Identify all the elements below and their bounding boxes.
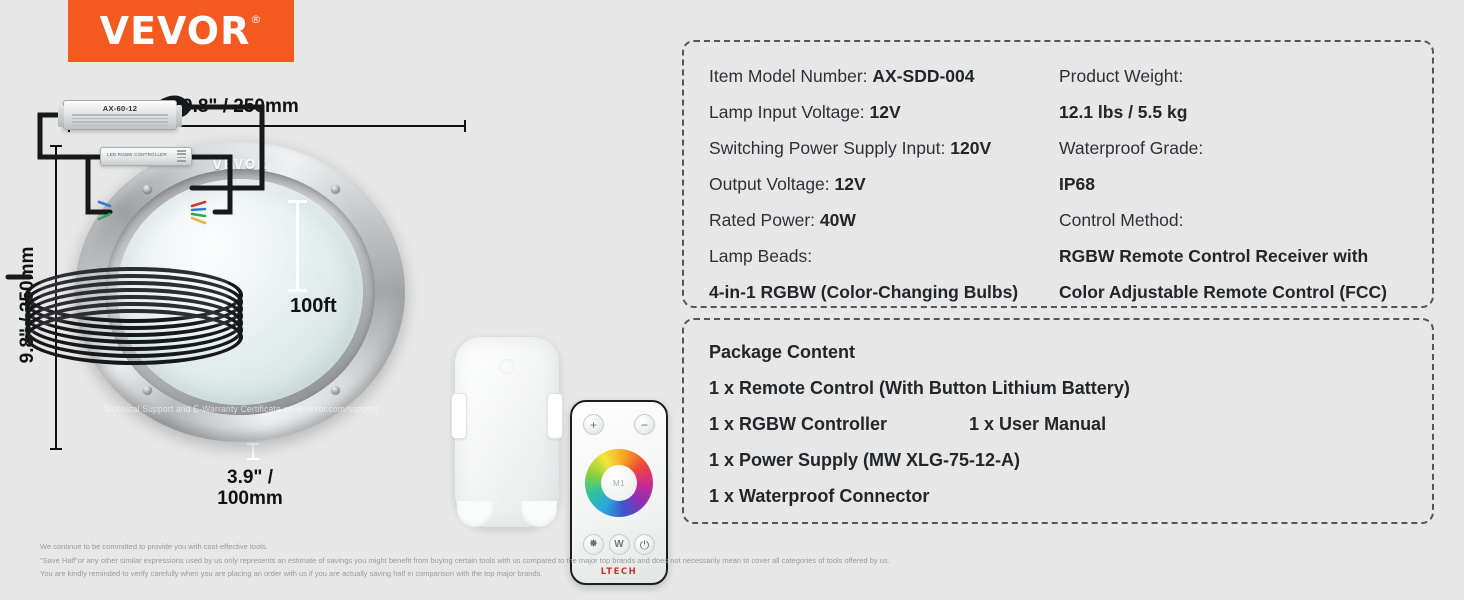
- vevor-logo: VEVOR ®: [68, 0, 294, 62]
- remote-mode-indicator: M1: [601, 465, 637, 501]
- package-item-primary: 1 x Waterproof Connector: [709, 486, 929, 506]
- spec-label: Lamp Beads:: [709, 246, 812, 266]
- disclaimer-line-3: You are kindly reminded to verify carefu…: [40, 567, 1140, 581]
- logo-wordmark: VEVOR ®: [100, 12, 263, 50]
- depth-dimension-label: 3.9" / 100mm: [185, 467, 315, 510]
- holder-screw-hole-icon: [500, 489, 515, 504]
- fixture-certificate-text: Technical Support and E-Warranty Certifi…: [75, 404, 405, 415]
- depth-label-line2: 100mm: [185, 488, 315, 509]
- holder-screw-hole-icon: [500, 359, 515, 374]
- spec-value: Color Adjustable Remote Control (FCC): [1059, 282, 1387, 302]
- spec-row: Output Voltage: 12V: [709, 166, 1054, 202]
- spec-row: Lamp Input Voltage: 12V: [709, 94, 1054, 130]
- depth-label-line1: 3.9" /: [185, 467, 315, 488]
- holder-clip-right: [547, 393, 563, 439]
- spec-value: AX-SDD-004: [872, 66, 974, 86]
- spec-row: RGBW Remote Control Receiver with: [1059, 238, 1419, 274]
- spec-row: 4-in-1 RGBW (Color-Changing Bulbs): [709, 274, 1054, 310]
- spec-label: Waterproof Grade:: [1059, 138, 1203, 158]
- package-item-primary: 1 x RGBW Controller: [709, 414, 887, 434]
- specification-panel: Item Model Number: AX-SDD-004Lamp Input …: [682, 40, 1434, 308]
- cable-coil: [25, 267, 243, 365]
- package-item-primary: 1 x Remote Control (With Button Lithium …: [709, 378, 1130, 398]
- spec-row: Switching Power Supply Input: 120V: [709, 130, 1054, 166]
- remote-plus-button: +: [583, 414, 604, 435]
- bezel-screw-icon: [331, 386, 340, 394]
- spec-label: Output Voltage:: [709, 174, 835, 194]
- spec-row: Control Method:: [1059, 202, 1419, 238]
- power-supply-model-label: AX-60-12: [64, 104, 176, 113]
- remote-minus-button: −: [634, 414, 655, 435]
- bezel-screw-icon: [331, 185, 340, 193]
- package-item: 1 x Remote Control (With Button Lithium …: [709, 370, 1414, 406]
- disclaimer-line-2: "Save Half"or any other similar expressi…: [40, 554, 1140, 568]
- spec-row: Lamp Beads:: [709, 238, 1054, 274]
- spec-value: 40W: [820, 210, 856, 230]
- width-dimension-label: 9.8" / 250mm: [182, 96, 299, 118]
- package-content-panel: Package Content 1 x Remote Control (With…: [682, 318, 1434, 524]
- spec-label: Item Model Number:: [709, 66, 872, 86]
- spec-value: 12V: [870, 102, 901, 122]
- spec-row: 12.1 lbs / 5.5 kg: [1059, 94, 1419, 130]
- spec-value: 12.1 lbs / 5.5 kg: [1059, 102, 1187, 122]
- spec-label: Switching Power Supply Input:: [709, 138, 950, 158]
- cable-length-tick: [296, 200, 299, 292]
- spec-column-right: Product Weight:12.1 lbs / 5.5 kgWaterpro…: [1059, 58, 1419, 310]
- cable-length-label: 100ft: [290, 295, 337, 318]
- spec-value: 12V: [835, 174, 866, 194]
- controller-terminal-pads: [177, 150, 186, 164]
- package-content-list: Package Content 1 x Remote Control (With…: [709, 334, 1414, 514]
- package-item-primary: 1 x Power Supply (MW XLG-75-12-A): [709, 450, 1020, 470]
- remote-color-wheel: M1: [585, 449, 653, 517]
- spec-row: Product Weight:: [1059, 58, 1419, 94]
- legal-disclaimer: We continue to be committed to provide y…: [40, 540, 1140, 581]
- spec-row: Waterproof Grade:: [1059, 130, 1419, 166]
- power-supply-spec-lines: [72, 114, 168, 128]
- package-item: 1 x Power Supply (MW XLG-75-12-A): [709, 442, 1414, 478]
- spec-row: Rated Power: 40W: [709, 202, 1054, 238]
- spec-value: RGBW Remote Control Receiver with: [1059, 246, 1368, 266]
- spec-label: Lamp Input Voltage:: [709, 102, 870, 122]
- package-item: 1 x RGBW Controller1 x User Manual: [709, 406, 1414, 442]
- spec-value: 120V: [950, 138, 991, 158]
- spec-row: Color Adjustable Remote Control (FCC): [1059, 274, 1419, 310]
- spec-value: IP68: [1059, 174, 1095, 194]
- spec-column-left: Item Model Number: AX-SDD-004Lamp Input …: [709, 58, 1054, 310]
- spec-value: 4-in-1 RGBW (Color-Changing Bulbs): [709, 282, 1018, 302]
- package-content-title: Package Content: [709, 334, 1414, 370]
- holder-foot-right: [521, 501, 557, 527]
- registered-trademark-icon: ®: [250, 14, 262, 25]
- spec-label: Rated Power:: [709, 210, 820, 230]
- controller-printed-text: LED RGBW CONTROLLER: [107, 152, 167, 157]
- rgbw-controller-module: LED RGBW CONTROLLER: [100, 147, 192, 166]
- bezel-screw-icon: [143, 386, 152, 394]
- package-item: 1 x Waterproof Connector: [709, 478, 1414, 514]
- product-illustration-pane: 9.8" / 250mm 9.8" / 250mm 3.9" / 100mm V…: [0, 62, 672, 532]
- bezel-screw-icon: [143, 185, 152, 193]
- logo-brand-text: VEVOR: [100, 9, 251, 53]
- switching-power-supply: AX-60-12: [63, 100, 177, 130]
- holder-foot-left: [457, 501, 493, 527]
- disclaimer-line-1: We continue to be committed to provide y…: [40, 540, 1140, 554]
- spec-row: IP68: [1059, 166, 1419, 202]
- remote-wall-holder: [455, 337, 559, 527]
- spec-label: Control Method:: [1059, 210, 1184, 230]
- spec-label: Product Weight:: [1059, 66, 1183, 86]
- holder-clip-left: [451, 393, 467, 439]
- spec-row: Item Model Number: AX-SDD-004: [709, 58, 1054, 94]
- package-item-secondary: 1 x User Manual: [969, 406, 1106, 442]
